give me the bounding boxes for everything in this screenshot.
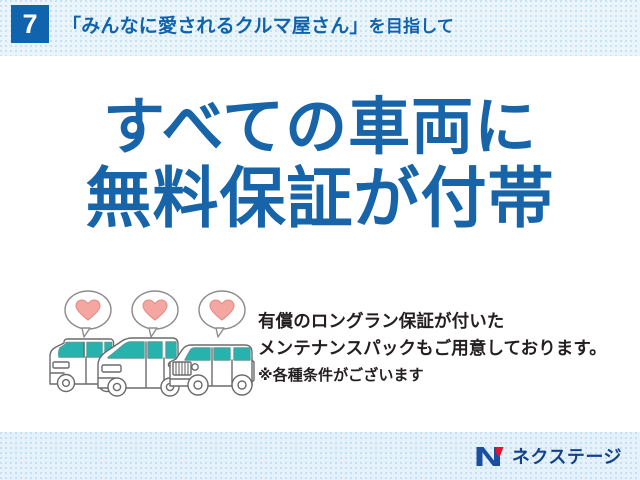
heart-bubble-center bbox=[132, 291, 178, 337]
car-right-suv bbox=[170, 345, 254, 395]
footer-band: ネクステージ bbox=[0, 432, 640, 480]
nextage-n-logo-icon bbox=[475, 446, 505, 467]
header-title-tail: を目指して bbox=[369, 17, 455, 36]
header-title-main: 「みんなに愛されるクルマ屋さん」 bbox=[62, 16, 369, 37]
cars-illustration bbox=[40, 288, 270, 400]
header-content: 7 「みんなに愛されるクルマ屋さん」を目指して bbox=[0, 0, 640, 48]
main-headline: すべての車両に 無料保証が付帯 bbox=[0, 96, 640, 233]
brand-name: ネクステージ bbox=[512, 443, 622, 469]
heart-bubble-left bbox=[65, 291, 111, 337]
headline-line-1: すべての車両に bbox=[0, 96, 640, 159]
header-title: 「みんなに愛されるクルマ屋さん」を目指して bbox=[62, 11, 454, 38]
headline-line-2: 無料保証が付帯 bbox=[0, 165, 640, 232]
body-copy: 有償のロングラン保証が付いた メンテナンスパックもご用意しております。 ※各種条… bbox=[258, 308, 628, 388]
header-band: 7 「みんなに愛されるクルマ屋さん」を目指して bbox=[0, 0, 640, 56]
brand-lockup: ネクステージ bbox=[475, 443, 622, 469]
body-line-1: 有償のロングラン保証が付いた bbox=[258, 308, 628, 335]
body-line-2: メンテナンスパックもご用意しております。 bbox=[258, 335, 628, 362]
heart-bubble-right bbox=[199, 291, 245, 337]
advertisement-banner: 7 「みんなに愛されるクルマ屋さん」を目指して すべての車両に 無料保証が付帯 bbox=[0, 0, 640, 480]
body-disclaimer-note: ※各種条件がございます bbox=[258, 364, 628, 388]
section-number-badge: 7 bbox=[11, 5, 49, 43]
